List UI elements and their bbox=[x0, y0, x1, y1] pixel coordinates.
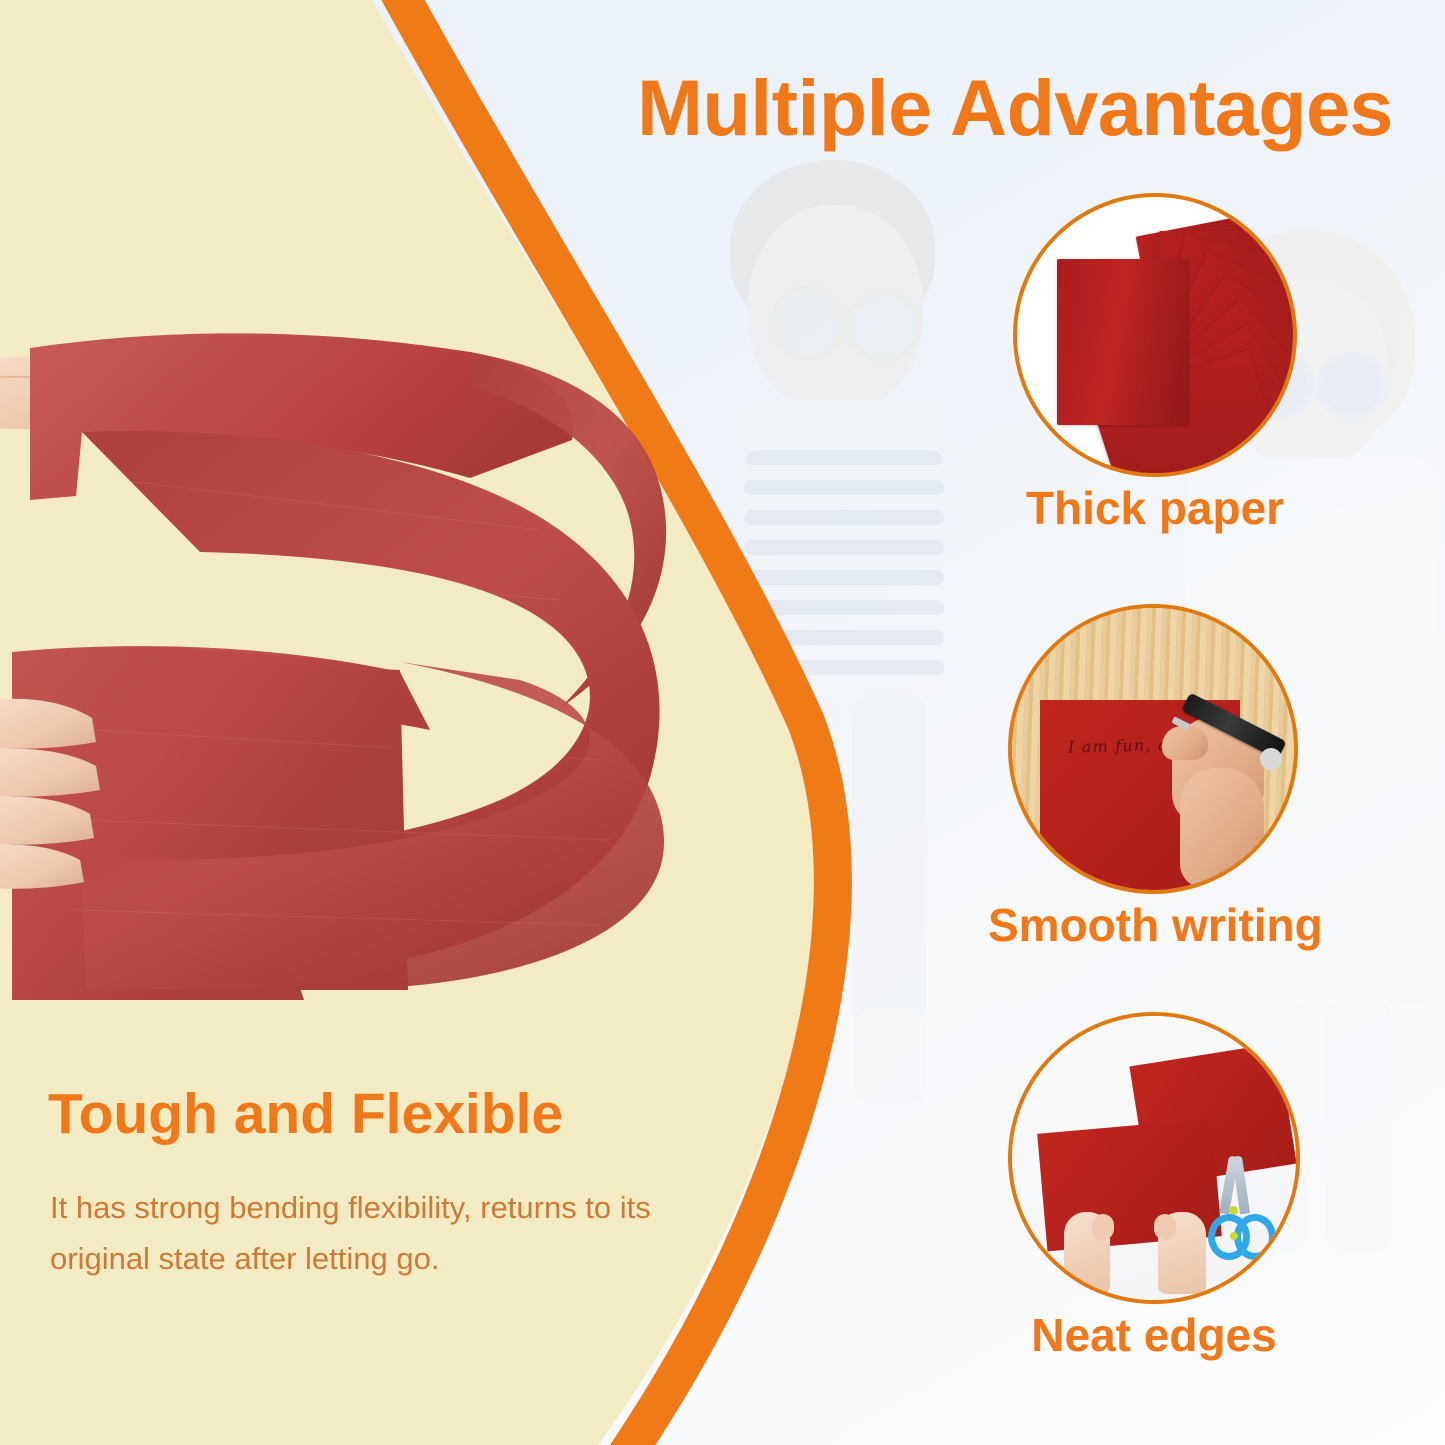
infographic-poster: Multiple Advantages bbox=[0, 0, 1445, 1445]
left-feature-title: Tough and Flexible bbox=[48, 1082, 688, 1146]
feature-neat-edges[interactable]: Neat edges bbox=[1008, 1012, 1300, 1304]
bent-cardstock-photo bbox=[0, 300, 700, 1000]
feature-label: Neat edges bbox=[1008, 1308, 1300, 1362]
feature-smooth-writing[interactable]: I am fun, and Smooth writing bbox=[1008, 604, 1298, 894]
neat-edges-photo bbox=[1008, 1012, 1300, 1304]
smooth-writing-photo: I am fun, and bbox=[1008, 604, 1298, 894]
feature-label: Smooth writing bbox=[988, 898, 1318, 952]
left-feature-body: It has strong bending flexibility, retur… bbox=[50, 1182, 750, 1284]
feature-thick-paper[interactable]: Thick paper bbox=[1013, 193, 1297, 477]
thick-paper-photo bbox=[1013, 193, 1297, 477]
page-title: Multiple Advantages bbox=[600, 55, 1430, 160]
feature-label: Thick paper bbox=[1013, 481, 1297, 535]
